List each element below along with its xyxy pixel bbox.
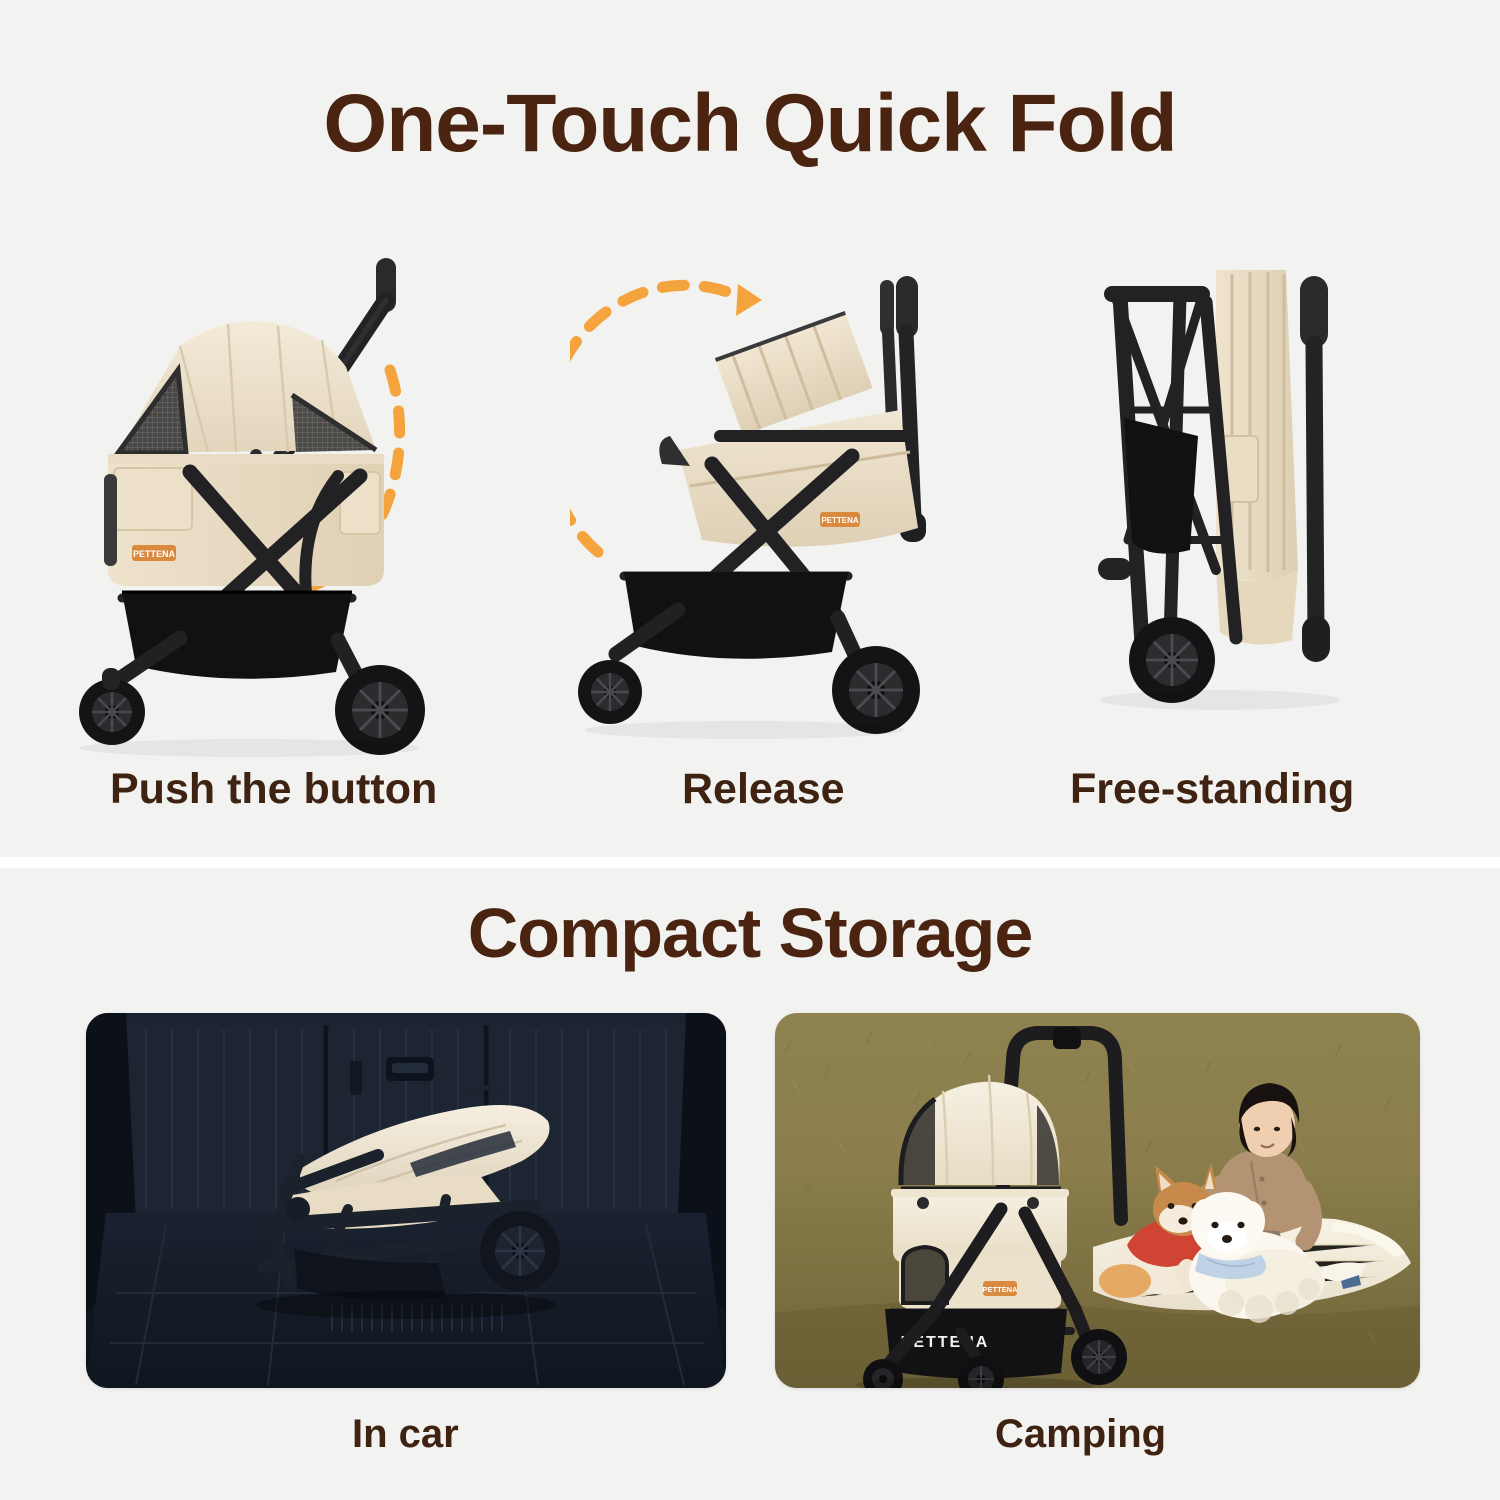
caption-release: Release bbox=[682, 765, 845, 814]
stroller-handle-folded bbox=[1300, 276, 1328, 636]
step-image-free-standing bbox=[1020, 240, 1470, 760]
collapsed-canopy bbox=[716, 313, 873, 435]
infographic-page: One-Touch Quick Fold bbox=[0, 0, 1500, 1500]
fold-button bbox=[1053, 1027, 1081, 1049]
brand-tag: PETTENA bbox=[132, 545, 176, 561]
photo-camping: PETTENA bbox=[775, 1013, 1420, 1388]
caption-free-standing: Free-standing bbox=[1070, 765, 1354, 814]
section-divider bbox=[0, 857, 1500, 868]
frame-cap-left bbox=[1098, 558, 1132, 580]
wheel-rear bbox=[832, 646, 920, 734]
caption-camping: Camping bbox=[995, 1412, 1166, 1457]
fold-steps-row: PETTENA bbox=[0, 240, 1500, 760]
storage-captions: In car Camping bbox=[0, 1412, 1500, 1464]
caption-in-car: In car bbox=[352, 1412, 459, 1457]
svg-text:PETTENA: PETTENA bbox=[133, 549, 176, 559]
step-image-push-the-button: PETTENA bbox=[60, 240, 530, 760]
folded-stroller-wheel bbox=[480, 1211, 560, 1291]
storage-basket bbox=[122, 592, 352, 679]
stroller-canopy bbox=[118, 321, 376, 461]
caption-push-the-button: Push the button bbox=[110, 765, 437, 814]
frame-cap-right bbox=[1302, 616, 1330, 662]
section-quick-fold: One-Touch Quick Fold bbox=[0, 0, 1500, 857]
svg-text:PETTENA: PETTENA bbox=[821, 516, 859, 525]
storage-title: Compact Storage bbox=[0, 898, 1500, 968]
section-compact-storage: Compact Storage bbox=[0, 868, 1500, 1500]
wheel-front bbox=[578, 660, 642, 724]
svg-text:PETTENA: PETTENA bbox=[982, 1285, 1018, 1294]
photo-in-car bbox=[86, 1013, 726, 1388]
fold-step-captions: Push the button Release Free-standing bbox=[0, 765, 1500, 820]
storage-basket-folded bbox=[1124, 418, 1198, 554]
wheel-front bbox=[79, 668, 145, 745]
brand-tag: PETTENA bbox=[820, 512, 860, 527]
brand-tag: PETTENA bbox=[982, 1281, 1018, 1296]
wheel-folded bbox=[1129, 617, 1215, 703]
storage-photos-row: PETTENA bbox=[0, 1013, 1500, 1388]
wheel-rear bbox=[1071, 1329, 1127, 1385]
step-image-release: PETTENA bbox=[570, 240, 990, 760]
page-title: One-Touch Quick Fold bbox=[0, 83, 1500, 165]
